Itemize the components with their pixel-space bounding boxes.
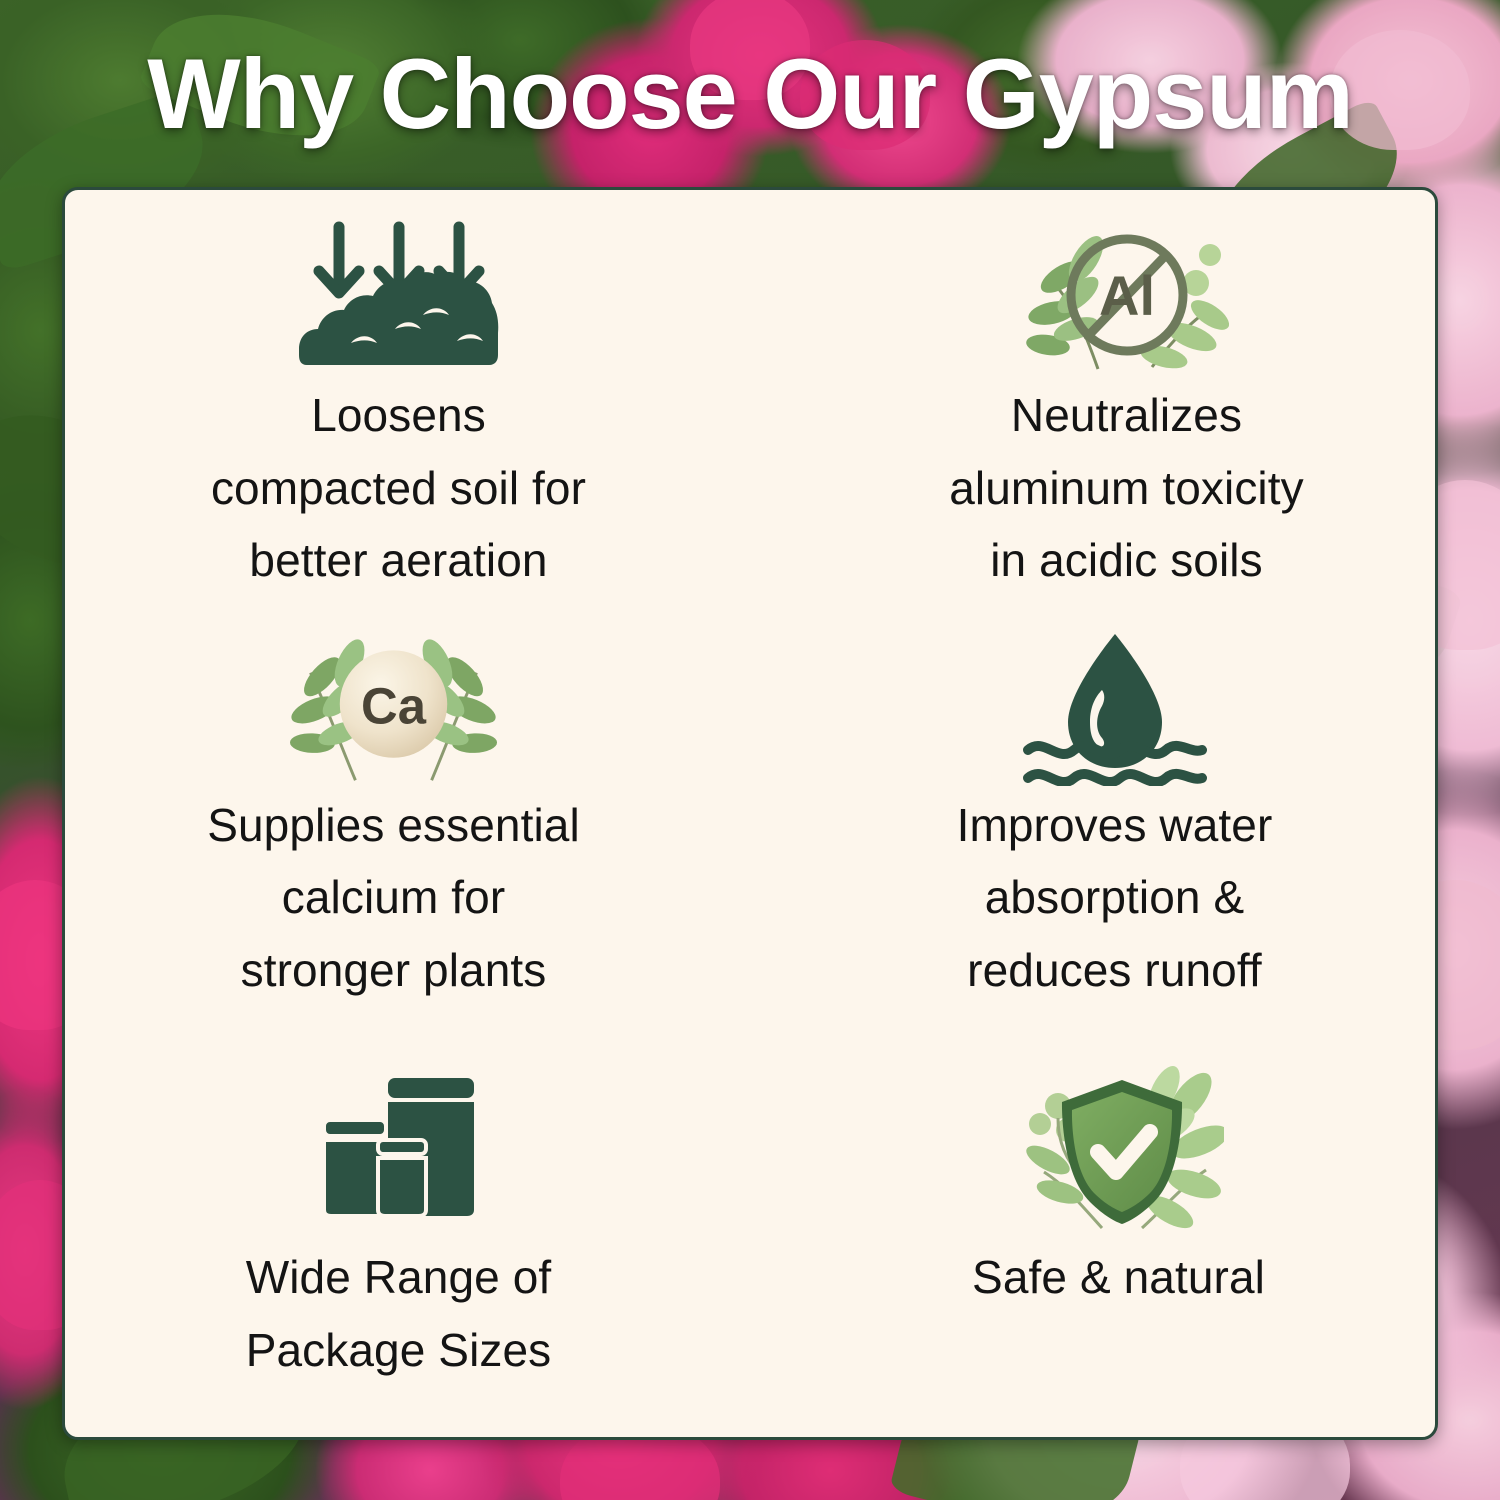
benefit-label-line: better aeration — [211, 524, 586, 597]
water-droplet-waves-icon — [1010, 624, 1220, 789]
benefit-label-line: Improves water — [957, 789, 1273, 862]
benefit-label-line: Loosens — [211, 379, 586, 452]
benefit-label-line: Wide Range of — [246, 1241, 552, 1314]
benefit-label-line: Package Sizes — [246, 1314, 552, 1387]
benefit-label: Loosens compacted soil for better aerati… — [211, 379, 586, 597]
aluminum-blocked-icon: Al — [1022, 214, 1232, 379]
aluminum-symbol-text: Al — [1099, 264, 1155, 327]
benefit-item-loosens: Loosens compacted soil for better aerati… — [62, 190, 741, 606]
benefit-label: Supplies essential calcium for stronger … — [207, 789, 580, 1007]
shield-check-leaves-icon — [1014, 1059, 1224, 1241]
benefit-label-line: absorption & — [957, 861, 1273, 934]
benefit-label-line: stronger plants — [207, 934, 580, 1007]
benefit-item-calcium: Ca Supplies essential calcium for strong… — [62, 606, 736, 1022]
benefits-card: Loosens compacted soil for better aerati… — [62, 187, 1438, 1440]
benefit-label-line: Safe & natural — [972, 1241, 1265, 1314]
benefit-label: Wide Range of Package Sizes — [246, 1241, 552, 1386]
package-bags-icon — [294, 1059, 504, 1241]
benefits-grid: Loosens compacted soil for better aerati… — [65, 190, 1435, 1437]
soil-arrows-icon — [294, 214, 504, 379]
benefit-label: Neutralizes aluminum toxicity in acidic … — [949, 379, 1303, 597]
benefit-label-line: reduces runoff — [957, 934, 1273, 1007]
benefit-item-packages: Wide Range of Package Sizes — [62, 1021, 741, 1437]
benefit-label-line: in acidic soils — [949, 524, 1303, 597]
benefit-label-line: Supplies essential — [207, 789, 580, 862]
benefit-label-line: compacted soil for — [211, 452, 586, 525]
benefit-item-safe: Safe & natural — [776, 1021, 1438, 1437]
benefit-label-line: aluminum toxicity — [949, 452, 1303, 525]
page-title: Why Choose Our Gypsum — [0, 44, 1500, 143]
benefit-label: Improves water absorption & reduces runo… — [957, 789, 1273, 1007]
calcium-symbol-text: Ca — [361, 677, 427, 734]
calcium-sphere-icon: Ca — [289, 624, 499, 789]
benefit-item-neutralizes: Al Neutralizes aluminum toxicity in acid… — [784, 190, 1438, 606]
benefit-label: Safe & natural — [972, 1241, 1265, 1314]
benefit-item-water: Improves water absorption & reduces runo… — [772, 606, 1438, 1022]
benefit-label-line: Neutralizes — [949, 379, 1303, 452]
benefit-label-line: calcium for — [207, 861, 580, 934]
